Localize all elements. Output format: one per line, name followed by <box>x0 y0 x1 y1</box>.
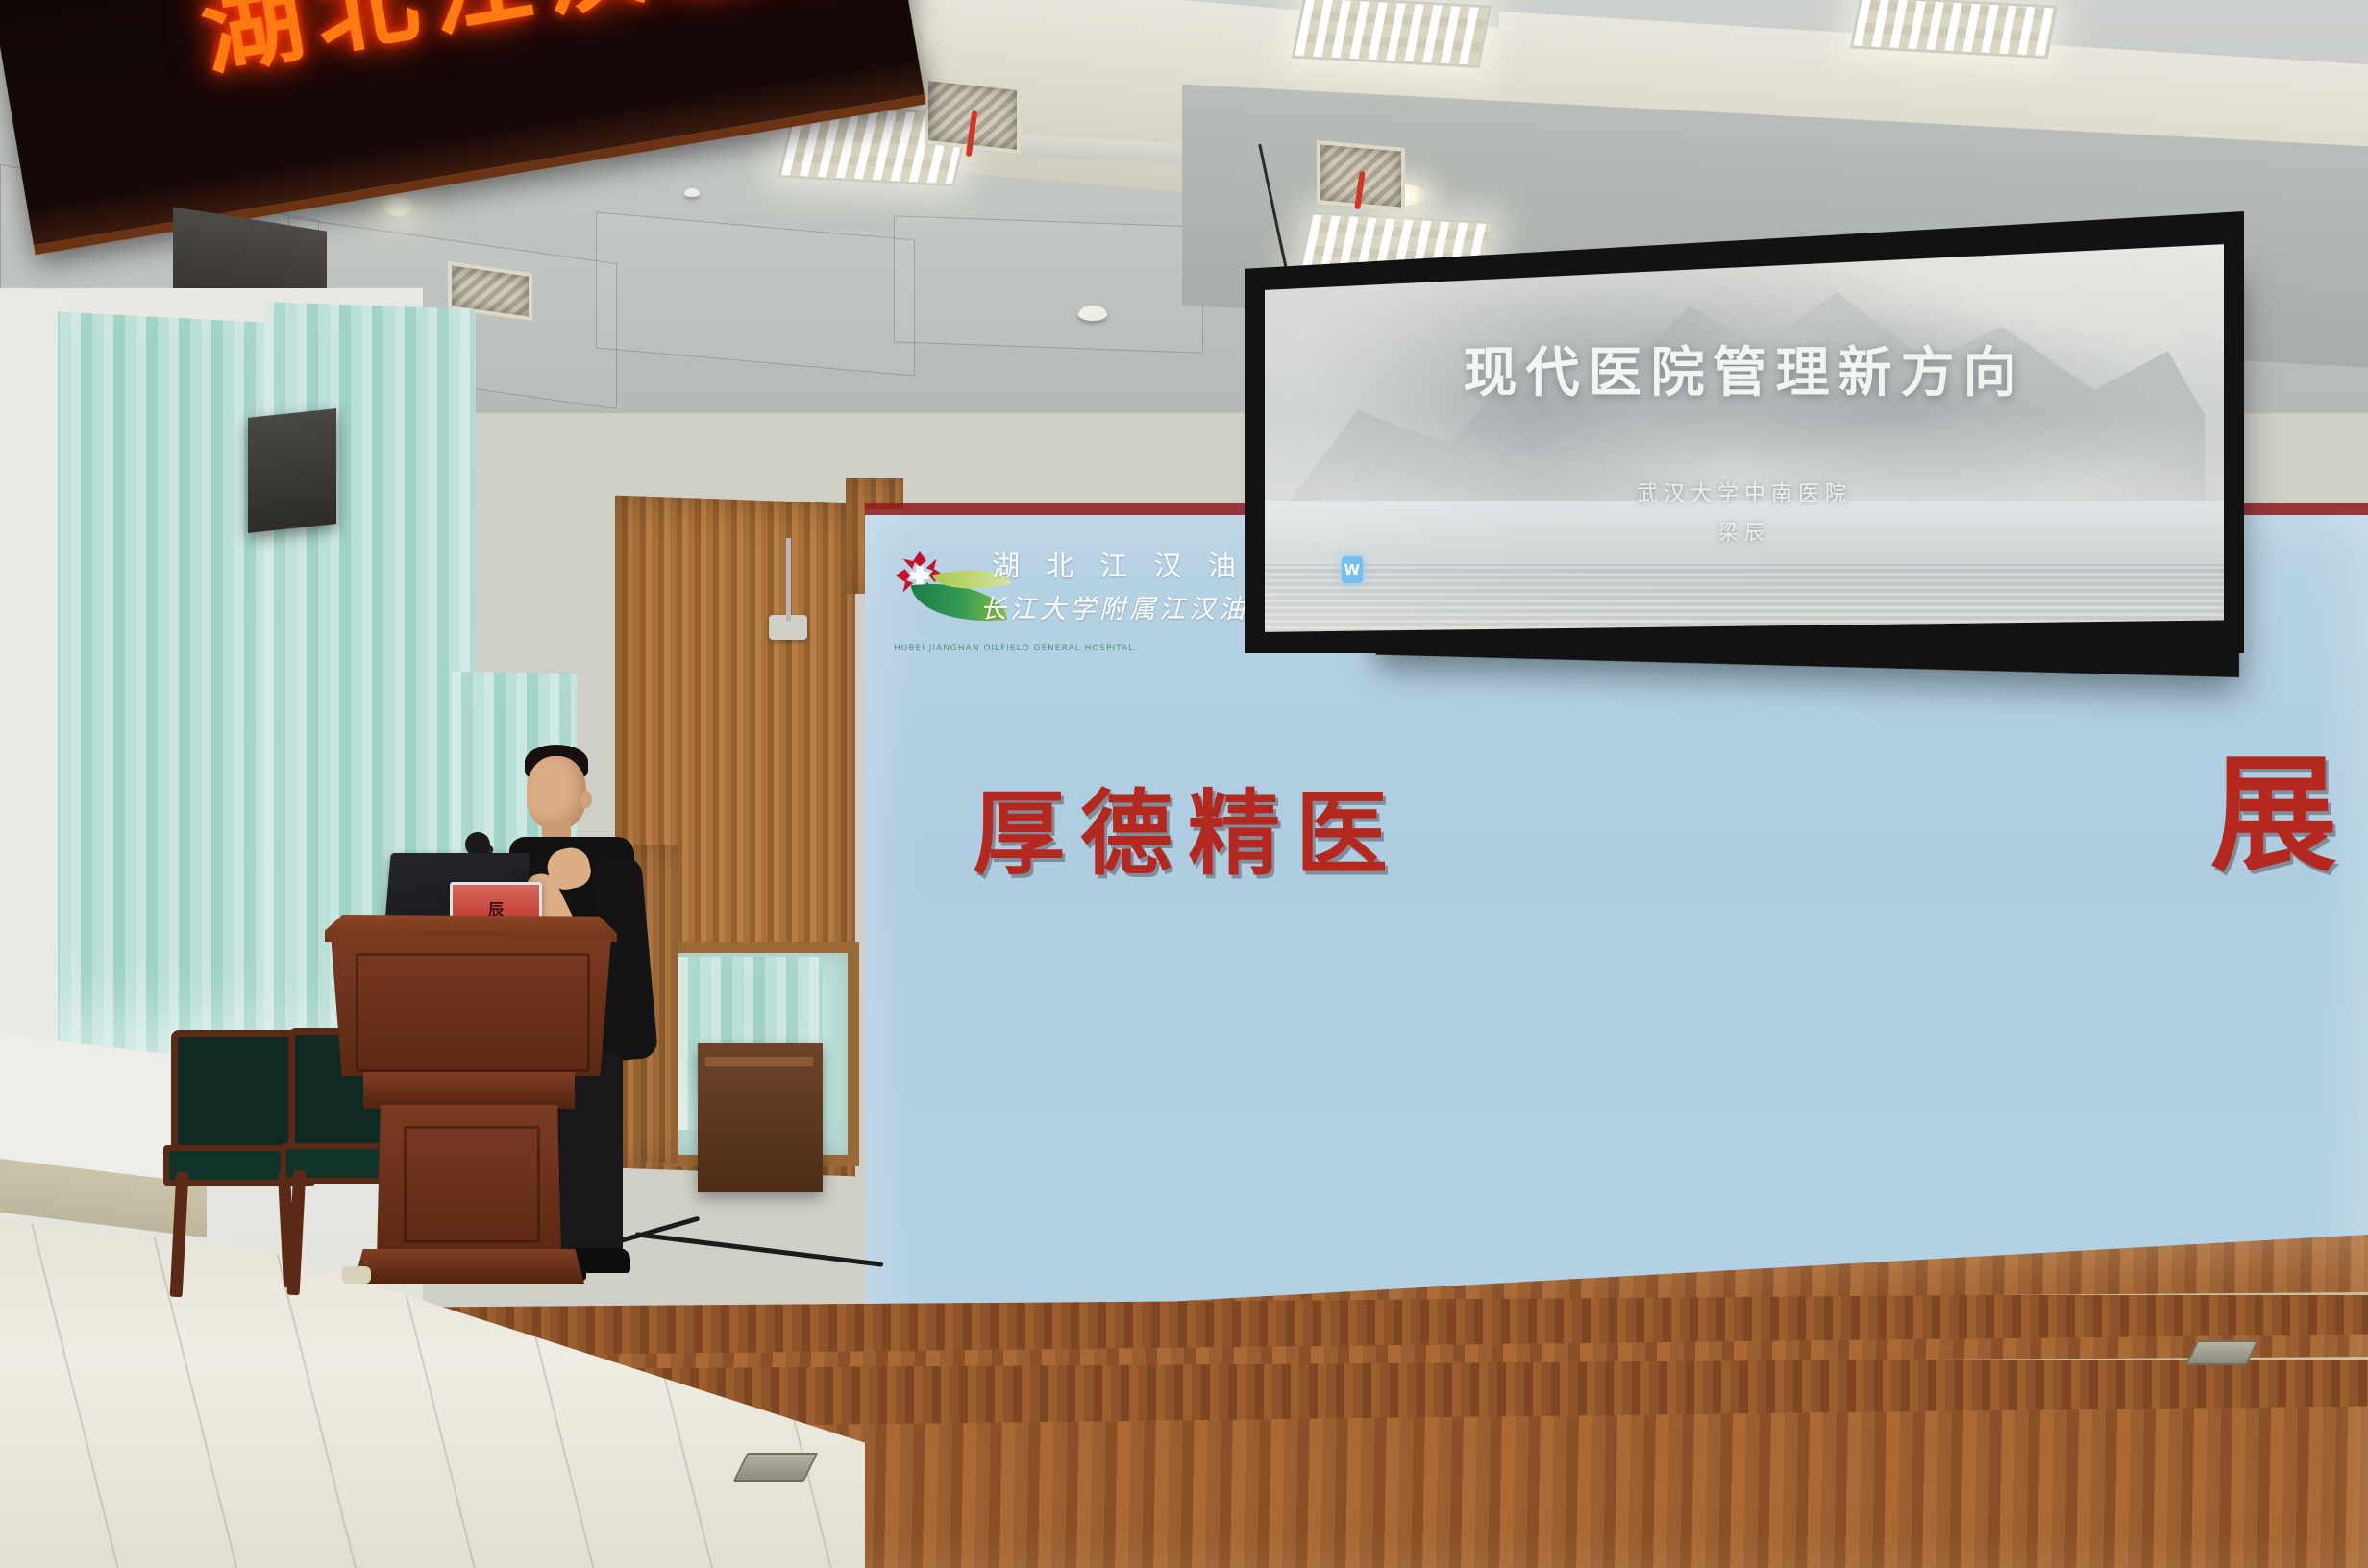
speaker-ear <box>580 791 592 808</box>
chair-leg <box>287 1170 307 1296</box>
backdrop-slogan-right: 展 <box>2210 713 2337 896</box>
light-louvre-grill <box>1295 0 1488 65</box>
recessed-louvre-light <box>1850 0 2059 59</box>
light-louvre-grill <box>1853 0 2054 56</box>
slide-title: 现代医院管理新方向 <box>1265 330 2224 407</box>
smoke-detector <box>1078 306 1107 321</box>
ceiling-tile <box>894 215 1203 353</box>
smoke-detector <box>684 188 700 197</box>
backdrop-slogan-left: 厚德精医 <box>973 759 1403 893</box>
ceiling-tile <box>596 211 915 376</box>
projection-screen-surface[interactable]: 现代医院管理新方向 武汉大学中南医院 梁辰 W <box>1265 238 2224 636</box>
side-cabinet-shelf <box>705 1057 813 1066</box>
hospital-logo-caption: HUBEI JIANGHAN OILFIELD GENERAL HOSPITAL <box>894 644 1134 653</box>
podium-column <box>363 1072 575 1109</box>
speaker-head <box>527 756 586 829</box>
slide-canvas: 现代医院管理新方向 武汉大学中南医院 梁辰 W <box>1265 238 2224 636</box>
podium-pedestal-panel <box>404 1126 540 1243</box>
wps-app-icon[interactable]: W <box>1342 556 1363 583</box>
podium-floor-plug <box>342 1266 371 1284</box>
podium-foot <box>354 1249 584 1284</box>
wall-speaker <box>248 408 336 533</box>
stage-floor-outlet <box>733 1453 819 1482</box>
stage-floor-outlet <box>2185 1340 2259 1365</box>
podium-front-panel <box>356 953 590 1072</box>
wall-upper-left <box>0 288 58 1115</box>
conference-hall-photo: 湖北江汉油田总医院 <box>0 0 2368 1568</box>
chair-leg <box>170 1172 189 1298</box>
window-curtain-left <box>38 310 279 1063</box>
recessed-downlight <box>381 197 415 216</box>
slide-presenter: 梁辰 <box>1265 517 2224 546</box>
slide-affiliation: 武汉大学中南医院 <box>1265 477 2224 507</box>
wall-camera-pole <box>786 538 791 621</box>
recessed-louvre-light <box>1292 0 1492 68</box>
